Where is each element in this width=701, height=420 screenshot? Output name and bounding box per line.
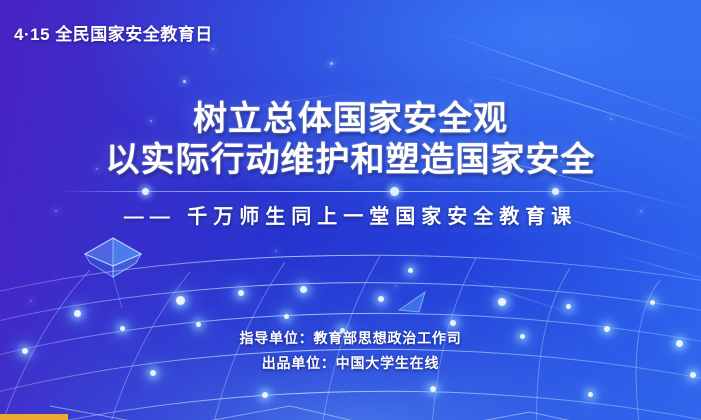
video-poster-frame: 4·15 全民国家安全教育日 树立总体国家安全观 以实际行动维护和塑造国家安全 … (0, 0, 701, 420)
main-title-block: 树立总体国家安全观 以实际行动维护和塑造国家安全 (0, 100, 701, 179)
credits-block: 指导单位：教育部思想政治工作司 出品单位：中国大学生在线 (0, 326, 701, 376)
page-title: 4·15 全民国家安全教育日 (14, 20, 213, 45)
network-globe-mesh (0, 210, 701, 420)
main-title-line-1: 树立总体国家安全观 (0, 100, 701, 138)
main-title-line-2: 以实际行动维护和塑造国家安全 (0, 141, 701, 179)
credit-line-producer: 出品单位：中国大学生在线 (0, 351, 701, 376)
subtitle: —— 千万师生同上一堂国家安全教育课 (0, 200, 701, 229)
video-progress-fill (0, 414, 68, 420)
tech-divider (60, 191, 641, 193)
video-progress-bar[interactable] (0, 414, 701, 420)
credit-line-guidance: 指导单位：教育部思想政治工作司 (0, 326, 701, 351)
